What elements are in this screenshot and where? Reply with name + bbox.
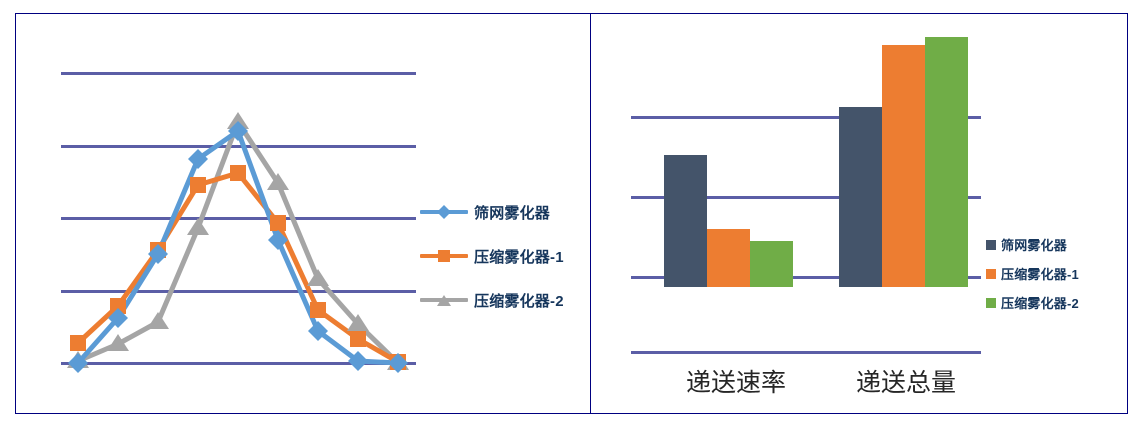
bar-total-compressor2[interactable] (925, 37, 968, 287)
category-label-rate: 递送速率 (646, 363, 826, 399)
bar-legend-swatch-compressor1-icon (986, 269, 996, 279)
legend-marker-triangle-icon (420, 292, 468, 308)
bar-total-compressor1[interactable] (882, 45, 925, 287)
legend-item-compressor1[interactable]: 压缩雾化器-1 (420, 234, 590, 278)
line-chart-panel: 筛网雾化器 压缩雾化器-1 (15, 13, 591, 414)
legend-label-compressor1: 压缩雾化器-1 (474, 246, 564, 267)
legend-item-compressor2[interactable]: 压缩雾化器-2 (420, 278, 590, 322)
bar-legend-item-compressor1[interactable]: 压缩雾化器-1 (986, 259, 1121, 288)
bar-total-sieve[interactable] (839, 107, 882, 287)
bar-legend-label-compressor1: 压缩雾化器-1 (1001, 264, 1079, 283)
category-label-total: 递送总量 (816, 363, 996, 399)
legend-item-sieve[interactable]: 筛网雾化器 (420, 190, 590, 234)
bar-legend-label-compressor2: 压缩雾化器-2 (1001, 293, 1079, 312)
legend-label-compressor2: 压缩雾化器-2 (474, 290, 564, 311)
line-chart-plot-area: 筛网雾化器 压缩雾化器-1 (16, 14, 590, 413)
bar-legend-item-compressor2[interactable]: 压缩雾化器-2 (986, 288, 1121, 317)
bar-chart-legend: 筛网雾化器 压缩雾化器-1 压缩雾化器-2 (986, 230, 1121, 317)
legend-marker-square-icon (420, 248, 468, 264)
bar-legend-label-sieve: 筛网雾化器 (1001, 235, 1067, 254)
bar-legend-item-sieve[interactable]: 筛网雾化器 (986, 230, 1121, 259)
bar-chart-plot-area: 递送速率 递送总量 筛网雾化器 压缩雾化器-1 压缩雾化器-2 (591, 14, 1127, 413)
bar-group-total (591, 14, 991, 351)
figure-root: 筛网雾化器 压缩雾化器-1 (0, 0, 1143, 426)
bar-legend-swatch-compressor2-icon (986, 298, 996, 308)
legend-marker-diamond-icon (420, 204, 468, 220)
bar-legend-swatch-sieve-icon (986, 240, 996, 250)
bar-chart-panel: 递送速率 递送总量 筛网雾化器 压缩雾化器-1 压缩雾化器-2 (590, 13, 1128, 414)
line-chart-legend: 筛网雾化器 压缩雾化器-1 (420, 190, 590, 322)
legend-label-sieve: 筛网雾化器 (474, 202, 550, 223)
bar-axis-baseline (631, 351, 981, 354)
